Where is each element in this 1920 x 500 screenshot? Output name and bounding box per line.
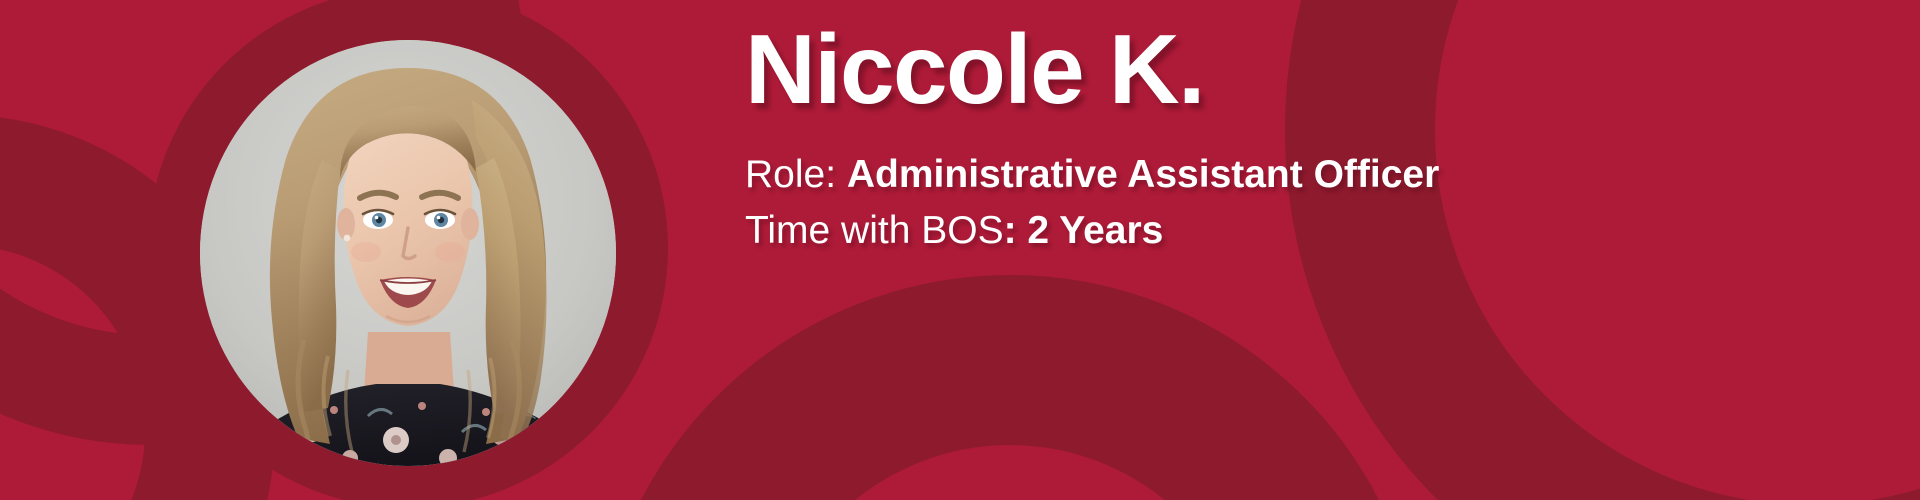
employee-spotlight-banner: Portrait photo of Niccole K., smiling wo… [0,0,1920,500]
role-label: Role: [745,153,847,196]
tenure-line: Time with BOS: 2 Years [745,208,1163,255]
role-value: Administrative Assistant Officer [847,153,1439,196]
spotlight-text-block: Niccole K. Role: Administrative Assistan… [745,0,1845,500]
avatar: Portrait photo of Niccole K., smiling wo… [200,40,616,466]
tenure-value: : 2 Years [1004,209,1164,252]
portrait-photo: Portrait photo of Niccole K., smiling wo… [200,40,616,466]
tenure-label: Time with BOS [745,209,1004,252]
page-title: Niccole K. [745,18,1204,121]
role-line: Role: Administrative Assistant Officer [745,152,1439,199]
